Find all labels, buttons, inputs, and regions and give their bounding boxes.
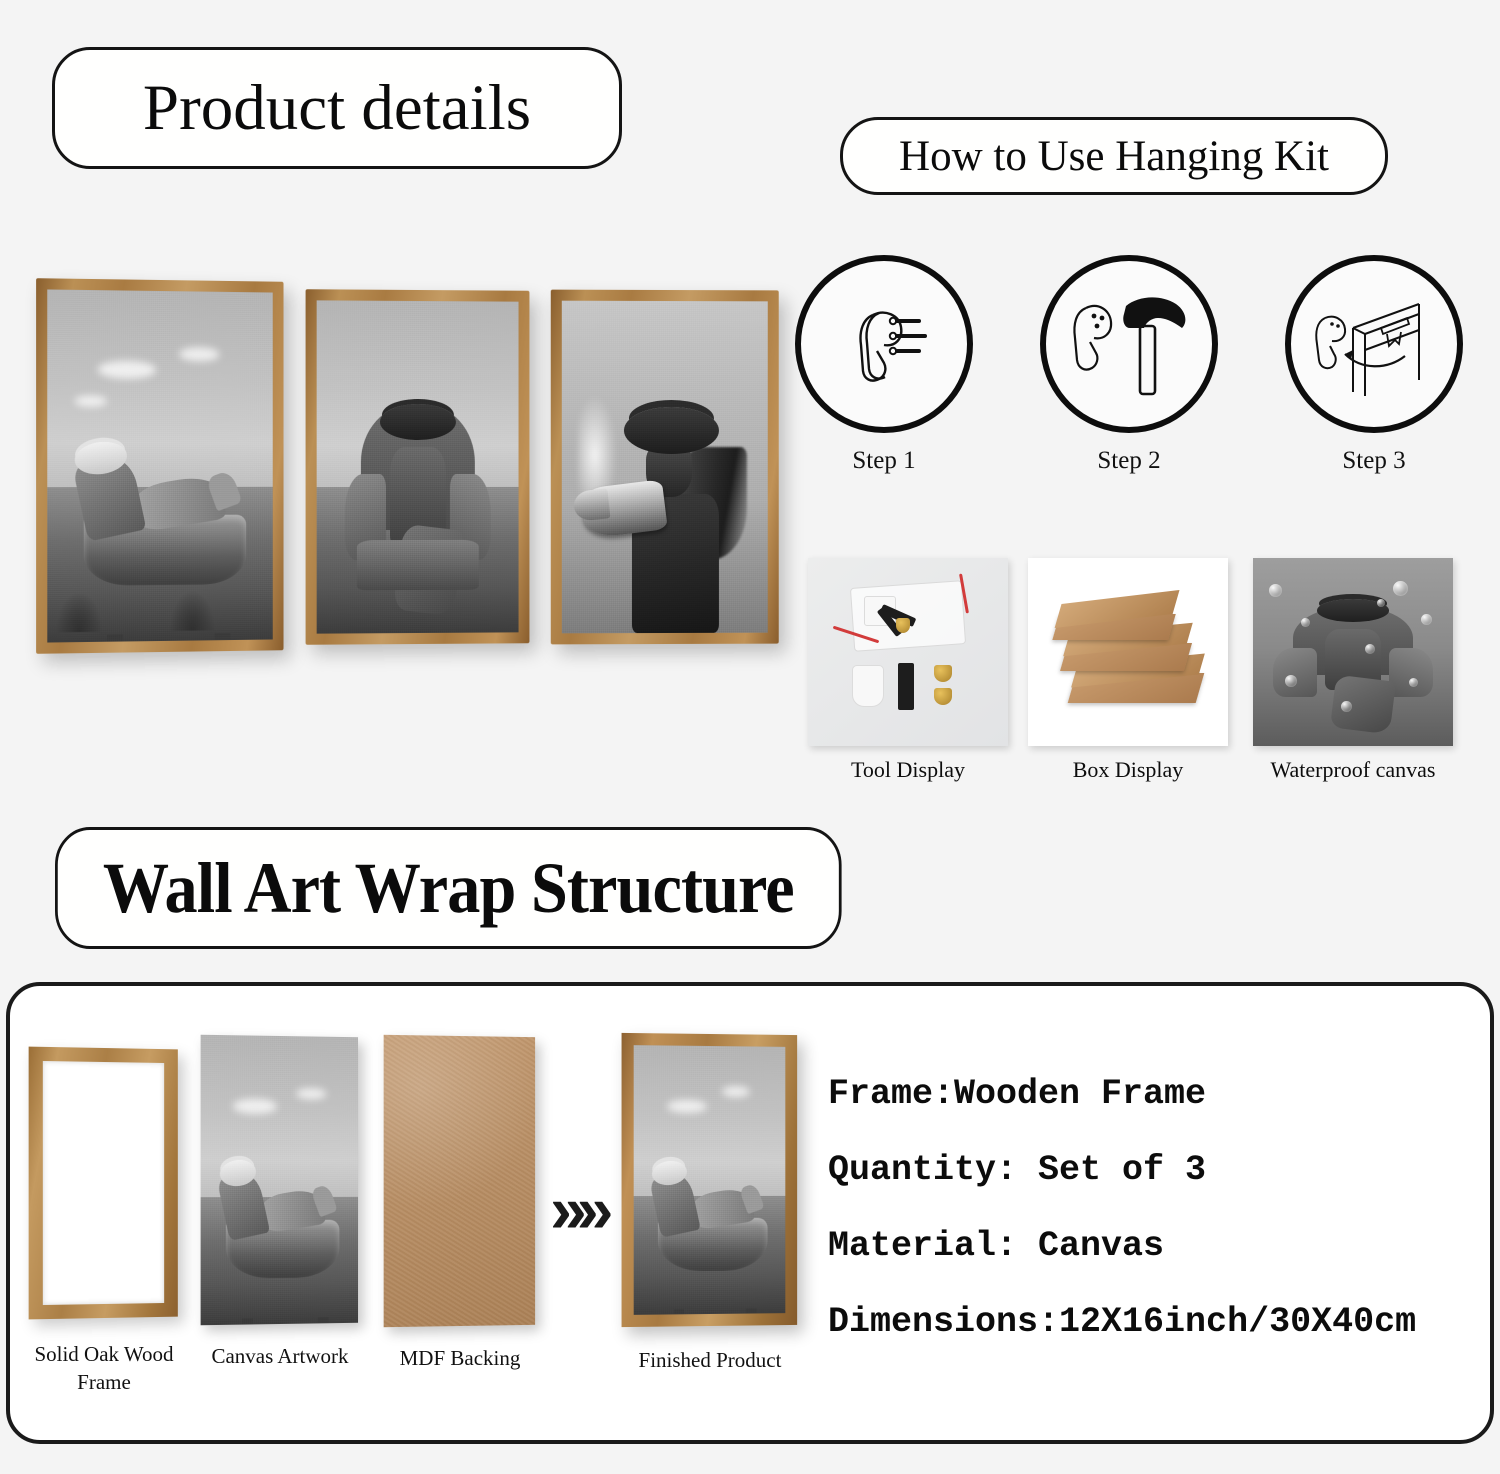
thumbnail-box-display: Box Display <box>1028 558 1228 783</box>
product-detail-page: Product details How to Use Hanging Kit W… <box>0 0 1500 1474</box>
armchair-arm-left <box>1273 648 1317 697</box>
brass-screw <box>934 688 952 705</box>
step-3-label: Step 3 <box>1285 447 1463 475</box>
waterproof-canvas-caption: Waterproof canvas <box>1253 757 1453 783</box>
step-1-label: Step 1 <box>795 447 973 475</box>
product-specifications: Frame:Wooden Frame Quantity: Set of 3 Ma… <box>828 1074 1416 1342</box>
wrap-item-finished-product: Finished Product <box>610 1034 810 1374</box>
hang-frame-on-wall-icon <box>1309 284 1439 404</box>
frame-opening <box>43 1061 164 1305</box>
brass-screw <box>934 665 952 682</box>
wrap-item-oak-frame: Solid Oak Wood Frame <box>20 1048 188 1397</box>
step-2-label: Step 2 <box>1040 447 1218 475</box>
water-droplet <box>1393 581 1408 596</box>
finished-product-graphic <box>622 1033 798 1327</box>
wrap-item-canvas-artwork: Canvas Artwork <box>182 1036 378 1370</box>
oak-frame-caption: Solid Oak Wood Frame <box>20 1340 188 1397</box>
canvas-grain <box>317 300 519 633</box>
kit-thumbnails: Tool Display Box Display <box>795 558 1485 798</box>
tool-display-caption: Tool Display <box>808 757 1008 783</box>
water-droplet <box>1341 701 1352 712</box>
finished-canvas <box>634 1045 786 1315</box>
wrap-structure-panel: Solid Oak Wood Frame Canvas Artwork M <box>6 982 1494 1444</box>
double-chevron-right-icon: »» <box>550 1171 603 1247</box>
mdf-backing-graphic <box>384 1035 535 1327</box>
white-plastic-hanger <box>852 665 884 706</box>
framed-artwork-cowgirl-with-revolver <box>551 290 779 645</box>
wrap-item-mdf-backing: MDF Backing <box>362 1036 558 1372</box>
canvas-artwork-graphic <box>201 1035 358 1326</box>
hanging-step-2: Step 2 <box>1040 255 1218 475</box>
artwork-triptych <box>0 262 800 672</box>
spec-dimensions: Dimensions:12X16inch/30X40cm <box>828 1302 1416 1342</box>
canvas-grain <box>634 1045 786 1315</box>
black-sawtooth-strip <box>898 663 914 710</box>
wrap-structure-heading: Wall Art Wrap Structure <box>55 827 842 949</box>
waterproof-canvas-photo <box>1253 558 1453 746</box>
step-2-circle <box>1040 255 1218 433</box>
thumbnail-waterproof-canvas: Waterproof canvas <box>1253 558 1453 783</box>
canvas-cowgirl-with-revolver <box>562 301 768 634</box>
box-display-photo <box>1028 558 1228 746</box>
finished-product-caption: Finished Product <box>610 1346 810 1374</box>
tool-display-photo <box>808 558 1008 746</box>
canvas-cowboy-in-bathtub <box>47 289 272 642</box>
hammer-and-hook-icon <box>1064 284 1194 404</box>
framed-artwork-cowboy-in-bathtub <box>36 278 283 654</box>
canvas-cowboy-in-armchair <box>317 300 519 633</box>
spec-material: Material: Canvas <box>828 1226 1416 1266</box>
water-droplet <box>1285 675 1297 687</box>
hanging-kit-steps: Step 1 Step 2 <box>795 255 1485 505</box>
step-3-circle <box>1285 255 1463 433</box>
step-1-circle <box>795 255 973 433</box>
solid-oak-wood-frame-graphic <box>29 1047 178 1320</box>
thumbnail-tool-display: Tool Display <box>808 558 1008 783</box>
hanging-step-3: Step 3 <box>1285 255 1463 475</box>
mdf-backing-caption: MDF Backing <box>362 1344 558 1372</box>
hanging-step-1: Step 1 <box>795 255 973 475</box>
cowboy-legs <box>1330 675 1396 735</box>
spec-frame: Frame:Wooden Frame <box>828 1074 1416 1114</box>
box-display-caption: Box Display <box>1028 757 1228 783</box>
armchair-arm-right <box>1389 648 1433 697</box>
spec-quantity: Quantity: Set of 3 <box>828 1150 1416 1190</box>
canvas-grain <box>47 289 272 642</box>
framed-artwork-cowboy-in-armchair <box>306 289 530 645</box>
canvas-grain <box>562 301 768 634</box>
hanging-kit-heading: How to Use Hanging Kit <box>840 117 1388 195</box>
canvas-artwork-caption: Canvas Artwork <box>182 1342 378 1370</box>
sawtooth-hanger-icon <box>829 289 939 399</box>
product-details-heading-text: Product details <box>143 71 531 146</box>
canvas-grain <box>201 1035 358 1326</box>
wrap-structure-heading-text: Wall Art Wrap Structure <box>103 847 794 930</box>
hanging-kit-heading-text: How to Use Hanging Kit <box>899 132 1329 181</box>
product-details-heading: Product details <box>52 47 622 169</box>
